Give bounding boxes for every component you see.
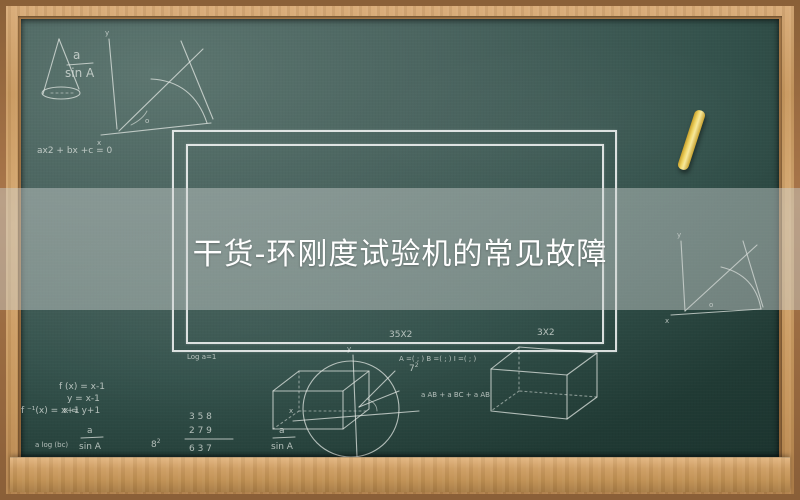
matrix-row: A =( ; ) B =( ; ) I =( ; ) [399, 355, 476, 363]
svg-text:f (x) = x-1: f (x) = x-1 [59, 382, 105, 392]
log-bc-note: a log (bc) [35, 441, 68, 449]
long-division: 3 5 8 2 7 9 6 3 7 [185, 412, 233, 454]
cube-drawing-2 [491, 347, 597, 419]
page-title: 干货-环刚度试验机的常见故障 [0, 228, 800, 274]
svg-text:o: o [145, 117, 149, 125]
quadratic-equation: ax2 + bx +c = 0 [37, 146, 112, 156]
svg-text:sin A: sin A [271, 442, 294, 452]
formula-a-over-sin-a-2: a sin A [79, 426, 103, 452]
svg-text:y = x-1: y = x-1 [67, 394, 100, 404]
svg-text:o: o [709, 301, 713, 309]
svg-text:a: a [87, 426, 93, 436]
svg-text:sin A: sin A [65, 66, 95, 80]
svg-text:3 5 8: 3 5 8 [189, 412, 212, 422]
svg-text:6 3 7: 6 3 7 [189, 444, 212, 454]
svg-text:2 7 9: 2 7 9 [189, 426, 212, 436]
svg-text:sin A: sin A [79, 442, 102, 452]
svg-text:y: y [105, 29, 109, 37]
formula-a-over-sin-a-3: a sin A [271, 426, 295, 452]
log-note: Log a=1 [187, 353, 216, 361]
screenshot-root: a sin A y x o ax2 + bx +c = 0 [0, 0, 800, 500]
svg-text:x: x [665, 317, 669, 325]
chalk-ledge [10, 457, 790, 492]
scribble-equation: a AB + a BC + a AB [421, 391, 490, 399]
inverse-function: f ⁻¹(x) = x+1 [21, 406, 80, 416]
power-seven-squared: 72 [409, 362, 419, 374]
power-eight-squared: 82 [151, 438, 161, 450]
svg-text:a: a [73, 48, 80, 62]
svg-text:a: a [279, 426, 285, 436]
svg-text:x: x [289, 407, 293, 415]
